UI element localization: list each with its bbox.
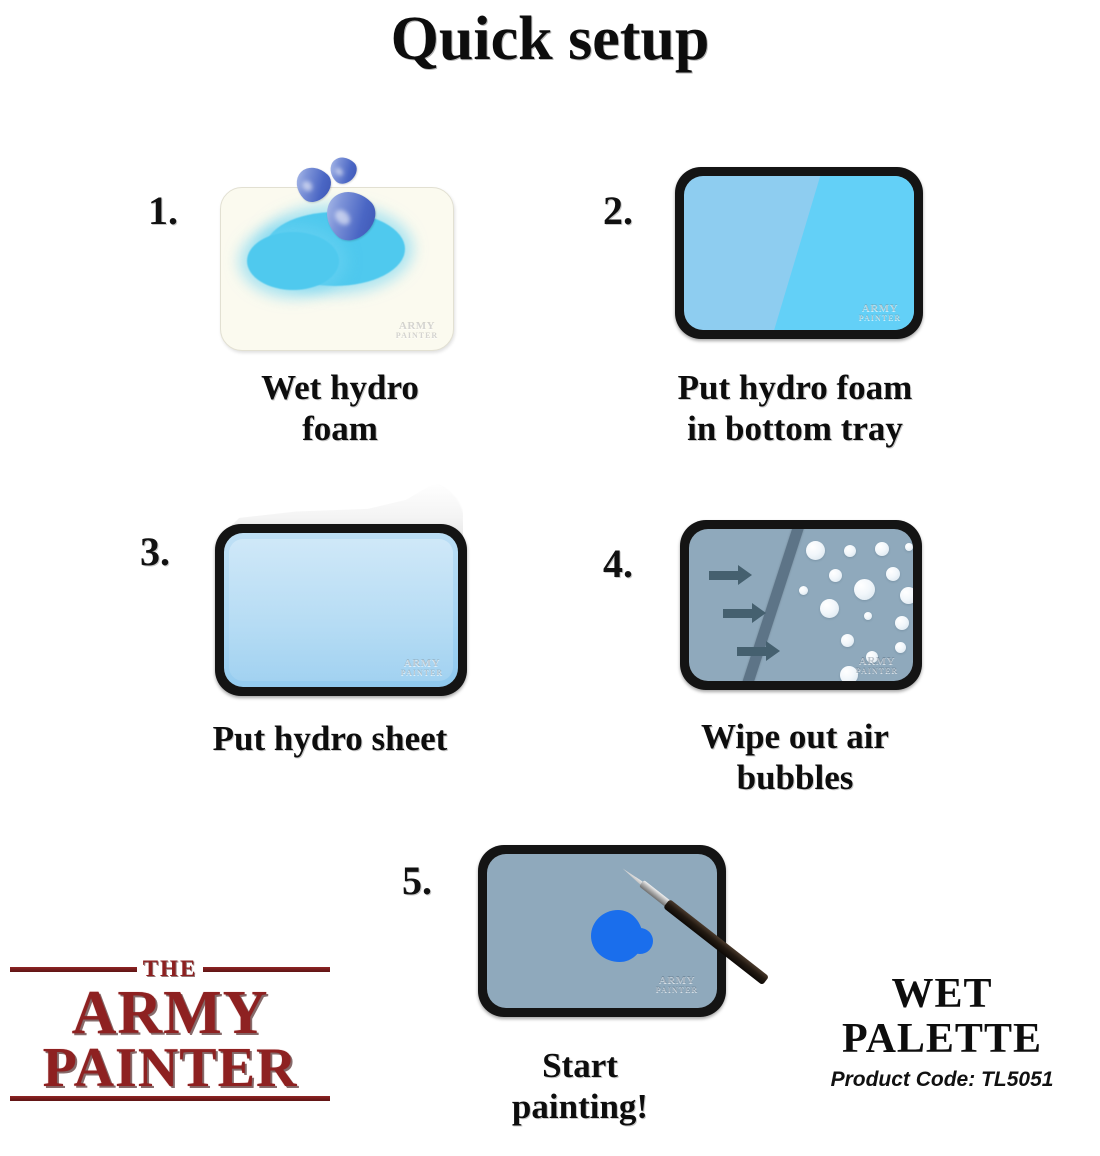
step-4: 4. xyxy=(595,520,985,820)
army-painter-watermark: ARMY PAINTER xyxy=(851,656,903,675)
air-bubble xyxy=(900,587,913,604)
logo-rule-left xyxy=(10,967,137,972)
product-name-line-1: WET xyxy=(792,972,1092,1017)
step-2-caption: Put hydro foam in bottom tray xyxy=(605,367,985,450)
step-4-caption: Wipe out air bubbles xyxy=(605,716,985,799)
step-2-caption-line-1: Put hydro foam xyxy=(605,367,985,408)
air-bubble xyxy=(905,543,913,551)
air-bubble xyxy=(875,542,889,556)
product-code: Product Code: TL5051 xyxy=(792,1068,1092,1092)
step-5: 5. ARMY PAINTER Start painting! xyxy=(390,845,770,1145)
logo-rule-bottom xyxy=(10,1096,330,1101)
step-1: 1. ARMY PAINTER Wet hydro foam xyxy=(130,155,490,465)
step-3: 3. ARMY PAINTER Put hydro sheet xyxy=(130,480,530,780)
air-bubble xyxy=(841,634,854,647)
step-4-illustration: ARMY PAINTER xyxy=(680,520,930,695)
product-name-line-2: PALETTE xyxy=(792,1017,1092,1062)
step-4-caption-line-1: Wipe out air xyxy=(605,716,985,757)
air-bubble xyxy=(820,599,839,618)
palette-tray: ARMY PAINTER xyxy=(478,845,726,1017)
step-4-number: 4. xyxy=(603,540,633,587)
logo-rule-right xyxy=(203,967,330,972)
air-bubble xyxy=(895,616,909,630)
watermark-line-2: PAINTER xyxy=(391,332,443,340)
step-3-caption: Put hydro sheet xyxy=(130,718,530,759)
air-bubble xyxy=(864,612,872,620)
air-bubble xyxy=(854,579,875,600)
army-painter-watermark: ARMY PAINTER xyxy=(651,975,703,994)
army-painter-watermark: ARMY PAINTER xyxy=(396,658,448,677)
army-painter-watermark: ARMY PAINTER xyxy=(854,303,906,322)
step-5-number: 5. xyxy=(402,857,432,904)
bottom-tray: ARMY PAINTER xyxy=(675,167,923,339)
watermark-line-2: PAINTER xyxy=(854,314,906,322)
air-bubble xyxy=(799,586,808,595)
air-bubble xyxy=(886,567,900,581)
tray-inner: ARMY PAINTER xyxy=(224,533,458,687)
tray-inner: ARMY PAINTER xyxy=(684,176,914,330)
blue-paint-blob xyxy=(591,910,643,962)
air-bubble xyxy=(895,642,906,653)
army-painter-logo: THE ARMY PAINTER xyxy=(10,950,330,1100)
step-1-caption-line-1: Wet hydro xyxy=(190,367,490,408)
wipe-arrow-2 xyxy=(723,609,753,618)
step-1-illustration: ARMY PAINTER xyxy=(220,155,460,370)
product-info: WET PALETTE Product Code: TL5051 xyxy=(792,972,1092,1092)
step-1-caption: Wet hydro foam xyxy=(190,367,490,450)
water-puddle-lobe xyxy=(247,232,339,290)
product-name: WET PALETTE xyxy=(792,972,1092,1062)
palette-tray: ARMY PAINTER xyxy=(680,520,922,690)
air-bubble xyxy=(829,569,842,582)
logo-painter-text: PAINTER xyxy=(10,1036,330,1100)
step-1-number: 1. xyxy=(148,187,178,234)
air-bubble xyxy=(806,541,825,560)
watermark-line-2: PAINTER xyxy=(396,669,448,677)
step-5-caption-line-1: Start xyxy=(410,1045,750,1086)
step-2-caption-line-2: in bottom tray xyxy=(605,408,985,449)
step-3-illustration: ARMY PAINTER xyxy=(215,480,475,680)
step-3-number: 3. xyxy=(140,528,170,575)
watermark-line-2: PAINTER xyxy=(651,986,703,994)
step-2-illustration: ARMY PAINTER xyxy=(675,167,925,342)
tray-inner: ARMY PAINTER xyxy=(487,854,717,1008)
wipe-arrow-3 xyxy=(737,647,767,656)
tray-with-hydro-sheet: ARMY PAINTER xyxy=(215,524,467,696)
wipe-arrow-1 xyxy=(709,571,739,580)
watermark-line-2: PAINTER xyxy=(851,667,903,675)
army-painter-watermark: ARMY PAINTER xyxy=(391,321,443,340)
step-1-caption-line-2: foam xyxy=(190,408,490,449)
step-5-caption-line-2: painting! xyxy=(410,1086,750,1127)
step-3-caption-line-1: Put hydro sheet xyxy=(130,718,530,759)
page-title: Quick setup xyxy=(0,4,1100,75)
air-bubble xyxy=(844,545,856,557)
tray-inner: ARMY PAINTER xyxy=(689,529,913,681)
step-4-caption-line-2: bubbles xyxy=(605,757,985,798)
step-2: 2. ARMY PAINTER Put hydro foam in bottom… xyxy=(595,155,985,465)
step-5-illustration: ARMY PAINTER xyxy=(478,845,768,1025)
step-5-caption: Start painting! xyxy=(410,1045,750,1128)
step-2-number: 2. xyxy=(603,187,633,234)
